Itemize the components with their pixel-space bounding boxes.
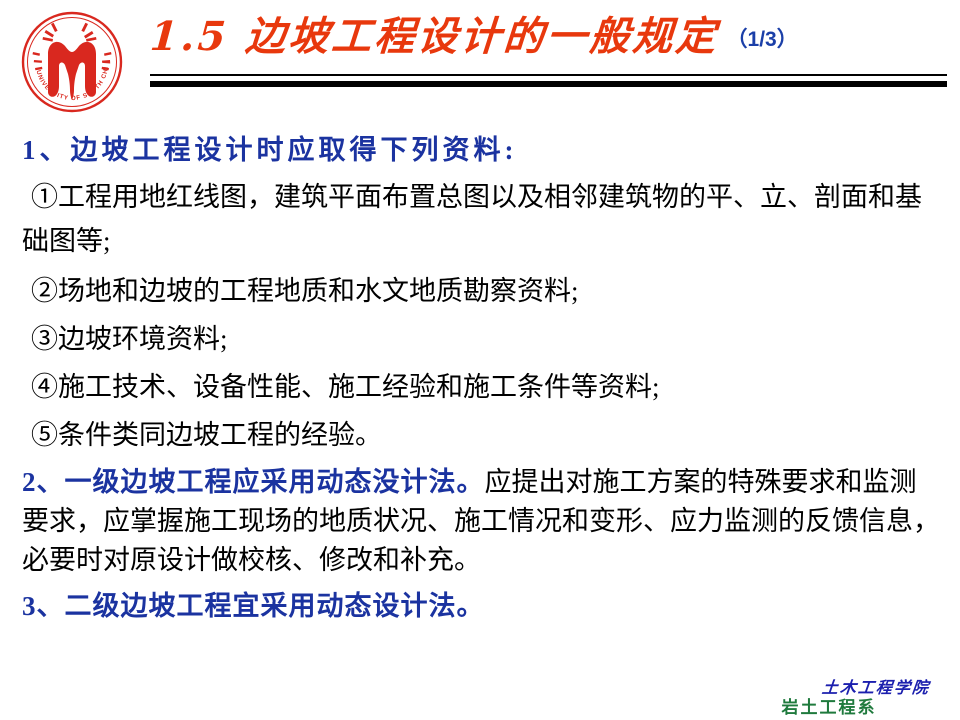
page-title: 1.5 边坡工程设计的一般规定	[148, 8, 721, 66]
list-item: ⑤条件类同边坡工程的经验。	[22, 413, 942, 457]
list-item: ②场地和边坡的工程地质和水文地质勘察资料;	[22, 269, 942, 313]
slide-footer: 土木工程学院 岩土工程系	[724, 678, 934, 718]
item-2-lead-text: 2、一级边坡工程应采用动态没计法。	[22, 467, 485, 497]
item-2-paragraph: 2、一级边坡工程应采用动态没计法。应提出对施工方案的特殊要求和监测要求，应掌握施…	[22, 463, 942, 580]
item-1-heading: 1、边坡工程设计时应取得下列资料:	[22, 128, 942, 172]
header-divider-thick	[150, 81, 947, 87]
university-seal-icon: UNIVERSITY OF SOUTH CHINA	[18, 8, 126, 116]
slide-header: UNIVERSITY OF SOUTH CHINA 1.5 边坡工程设计的一般规…	[0, 0, 960, 122]
list-item: ①工程用地红线图，建筑平面布置总图以及相邻建筑物的平、立、剖面和基础图等;	[22, 175, 942, 263]
slide-content: 1、边坡工程设计时应取得下列资料: ①工程用地红线图，建筑平面布置总图以及相邻建…	[0, 128, 960, 648]
item-3-paragraph: 3、二级边坡工程宜采用动态设计法。	[22, 584, 942, 628]
list-item: ④施工技术、设备性能、施工经验和施工条件等资料;	[22, 365, 942, 409]
footer-department-name: 岩土工程系	[724, 698, 934, 718]
list-item: ③边坡环境资料;	[22, 317, 942, 361]
header-divider-thin	[150, 74, 947, 76]
slide-canvas: { "header": { "logo": { "icon": "univers…	[0, 0, 960, 720]
page-counter: （1/3）	[727, 23, 798, 53]
footer-college-name: 土木工程学院	[723, 678, 935, 698]
slide-title: 1.5 边坡工程设计的一般规定 （1/3）	[150, 8, 950, 70]
